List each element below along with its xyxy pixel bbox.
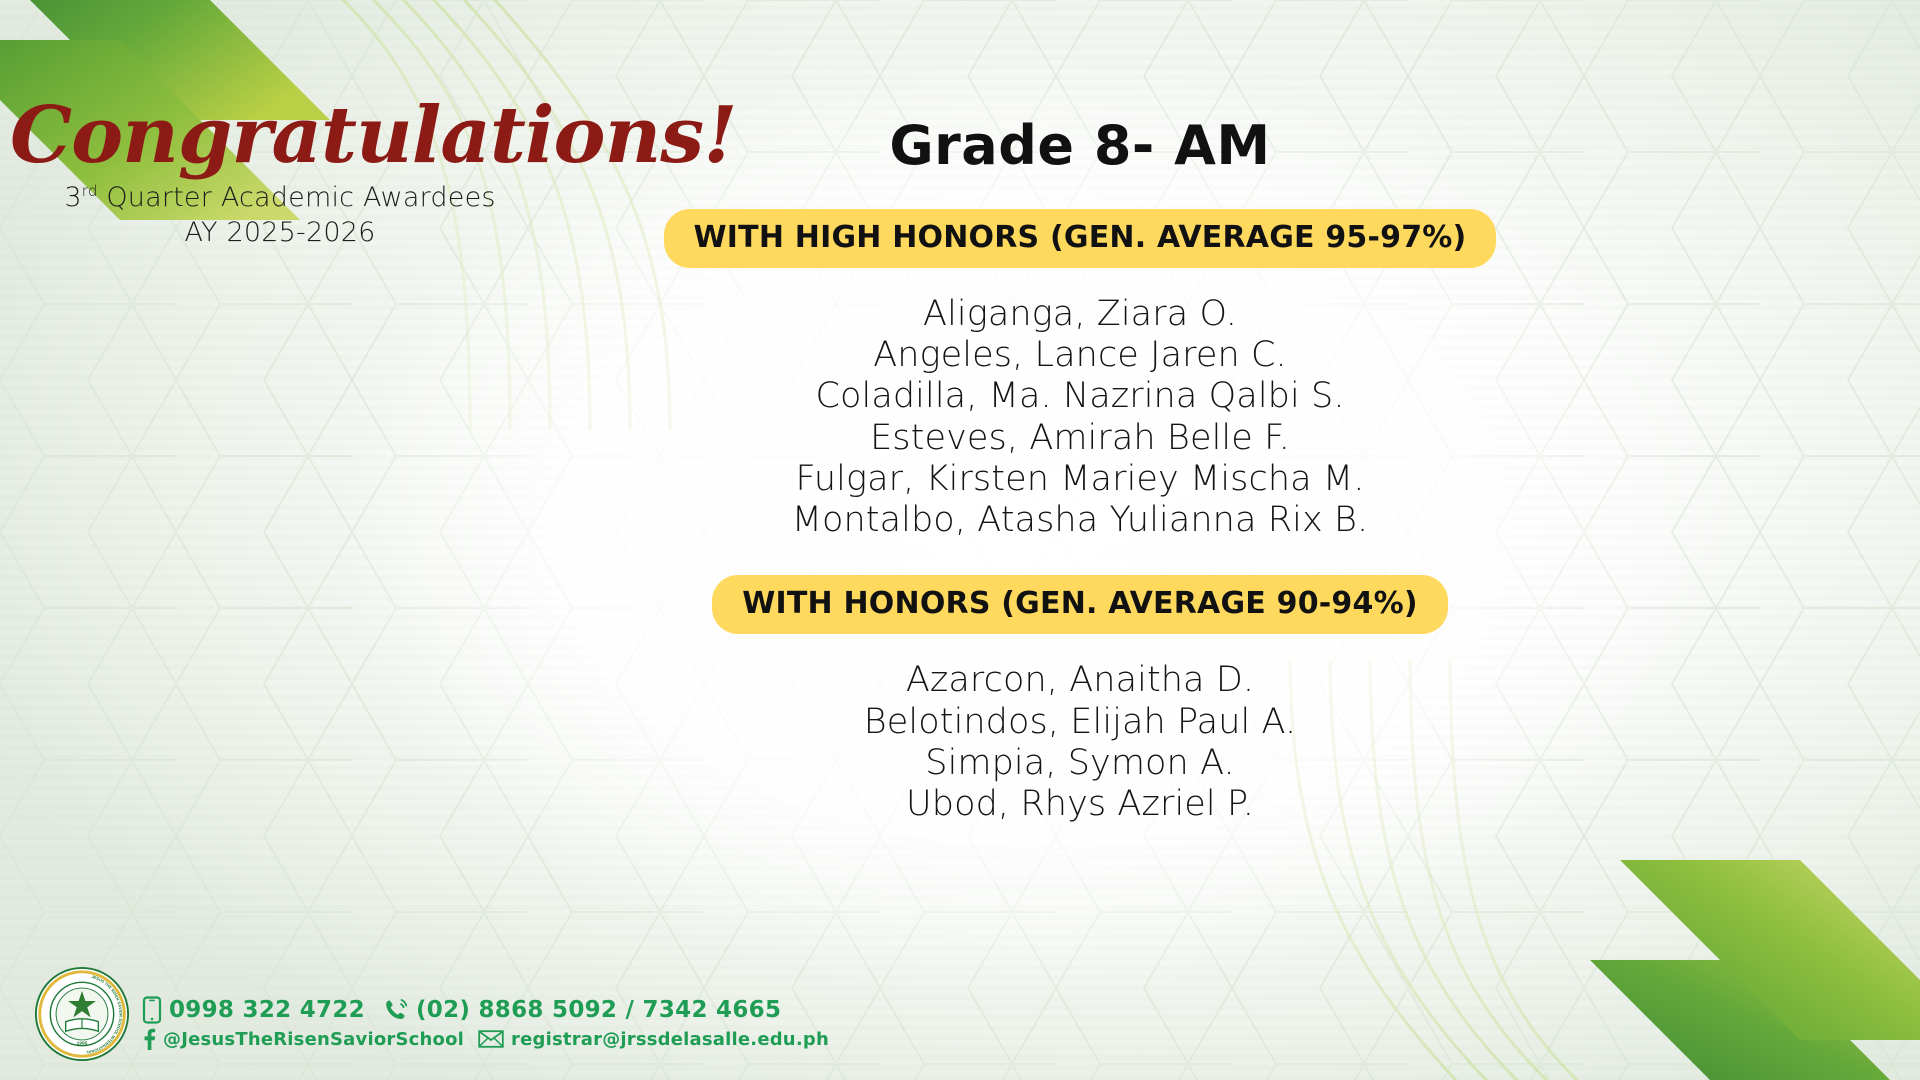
contact-row-phones: 0998 322 4722 (02) 8868 5092 / 7342 4665: [142, 996, 829, 1024]
contact-details: 0998 322 4722 (02) 8868 5092 / 7342 4665: [142, 996, 829, 1064]
list-item: Fulgar, Kirsten Mariey Mischa M.: [560, 459, 1600, 500]
list-item: Esteves, Amirah Belle F.: [560, 418, 1600, 459]
list-item: Ubod, Rhys Azriel P.: [560, 784, 1600, 825]
academic-year: AY 2025-2026: [0, 215, 560, 251]
awardee-subtitle: 3rd Quarter Academic Awardees: [0, 180, 560, 216]
email-icon: [478, 1030, 504, 1048]
main-content-column: Grade 8- AM WITH HIGH HONORS (GEN. AVERA…: [560, 0, 1600, 826]
telephone-icon: [383, 997, 409, 1023]
list-item: Montalbo, Atasha Yulianna Rix B.: [560, 500, 1600, 541]
list-item: Belotindos, Elijah Paul A.: [560, 702, 1600, 743]
honors-banner: WITH HONORS (GEN. AVERAGE 90-94%): [712, 575, 1448, 634]
poster-canvas: Congratulations! 3rd Quarter Academic Aw…: [0, 0, 1920, 1080]
congratulations-headline: Congratulations!: [0, 96, 560, 176]
list-item: Azarcon, Anaitha D.: [560, 660, 1600, 701]
page-title: Grade 8- AM: [560, 118, 1600, 175]
mobile-phone-icon: [142, 996, 162, 1024]
school-seal-logo: JESUS THE RISEN SAVIOR SCHOOL INTERNATIO…: [34, 966, 130, 1062]
honors-banner-wrap: WITH HONORS (GEN. AVERAGE 90-94%): [560, 575, 1600, 634]
landline-number[interactable]: (02) 8868 5092 / 7342 4665: [416, 997, 781, 1023]
facebook-icon: [142, 1028, 156, 1050]
high-honors-banner-wrap: WITH HIGH HONORS (GEN. AVERAGE 95-97%): [560, 209, 1600, 268]
list-item: Coladilla, Ma. Nazrina Qalbi S.: [560, 376, 1600, 417]
high-honors-banner: WITH HIGH HONORS (GEN. AVERAGE 95-97%): [664, 209, 1497, 268]
left-heading-block: Congratulations! 3rd Quarter Academic Aw…: [0, 96, 560, 251]
list-item: Aliganga, Ziara O.: [560, 294, 1600, 335]
honors-name-list: Azarcon, Anaitha D. Belotindos, Elijah P…: [560, 660, 1600, 825]
high-honors-name-list: Aliganga, Ziara O. Angeles, Lance Jaren …: [560, 294, 1600, 542]
svg-text:1995: 1995: [77, 1041, 88, 1047]
subtitle-rest: Quarter Academic Awardees: [98, 182, 496, 213]
contact-row-social: @JesusTheRisenSaviorSchool registrar@jrs…: [142, 1028, 829, 1050]
subtitle-ordinal-suffix: rd: [82, 182, 98, 200]
mobile-number[interactable]: 0998 322 4722: [169, 997, 365, 1023]
email-address[interactable]: registrar@jrssdelasalle.edu.ph: [511, 1029, 829, 1050]
footer-contact-block: JESUS THE RISEN SAVIOR SCHOOL INTERNATIO…: [34, 966, 829, 1064]
facebook-handle[interactable]: @JesusTheRisenSaviorSchool: [163, 1029, 464, 1050]
list-item: Simpia, Symon A.: [560, 743, 1600, 784]
list-item: Angeles, Lance Jaren C.: [560, 335, 1600, 376]
subtitle-ordinal-number: 3: [64, 182, 81, 213]
